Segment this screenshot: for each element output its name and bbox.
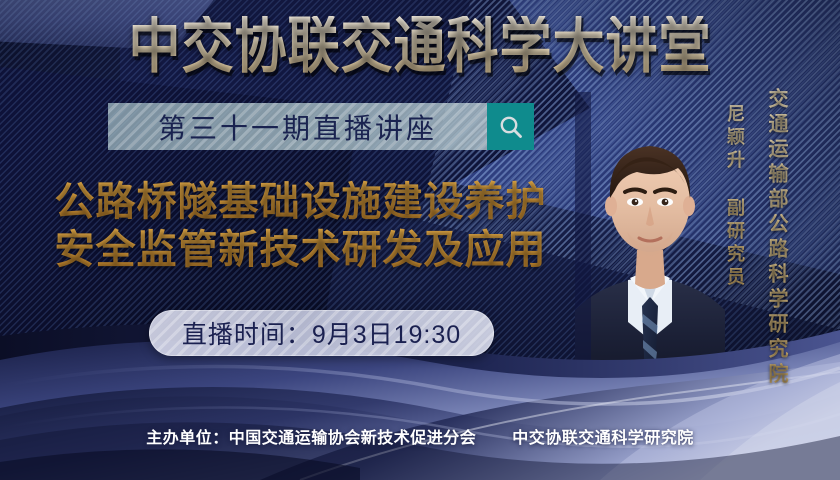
main-title: 中交协联交通科学大讲堂 xyxy=(0,16,840,77)
episode-banner-label: 第三十一期直播讲座 xyxy=(158,107,437,147)
footer-organizer: 主办单位：中国交通运输协会新技术促进分会 xyxy=(146,430,476,447)
headline: 公路桥隧基础设施建设养护 安全监管新技术研发及应用 xyxy=(28,178,573,274)
headline-line-1: 公路桥隧基础设施建设养护 xyxy=(28,178,573,226)
broadcast-time-label: 直播时间：9月3日19:30 xyxy=(182,315,461,351)
footer: 主办单位：中国交通运输协会新技术促进分会 中交协联交通科学研究院 xyxy=(0,424,840,448)
headline-line-2: 安全监管新技术研发及应用 xyxy=(28,226,573,274)
speaker-organization: 交通运输部公路科学研究院 xyxy=(762,88,791,388)
speaker-name: 尼颖升 副研究员 xyxy=(722,104,748,290)
broadcast-time-pill: 直播时间：9月3日19:30 xyxy=(149,310,494,356)
search-icon[interactable] xyxy=(487,103,534,150)
footer-co-organizer: 中交协联交通科学研究院 xyxy=(512,430,694,447)
episode-banner-body: 第三十一期直播讲座 xyxy=(108,103,487,150)
episode-banner: 第三十一期直播讲座 xyxy=(108,103,534,150)
live-stream-poster: 中交协联交通科学大讲堂 中交协联交通科学大讲堂 第三十一期直播讲座 公路桥隧基础… xyxy=(0,0,840,480)
